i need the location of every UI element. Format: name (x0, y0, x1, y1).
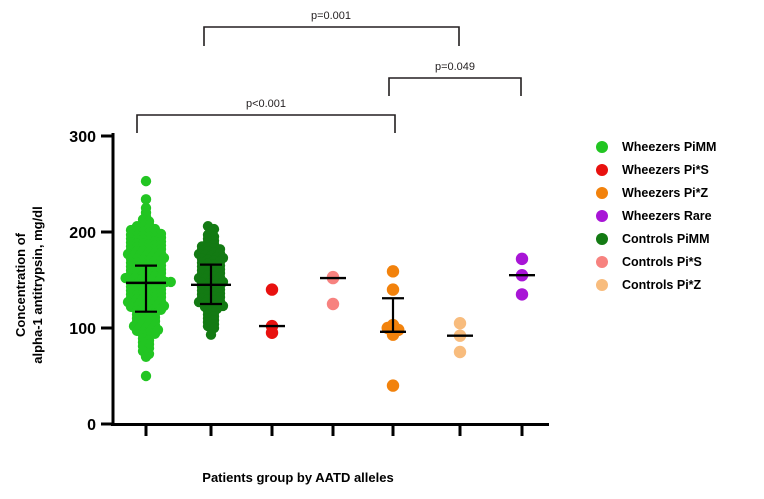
legend-color-swatch-icon (596, 187, 608, 199)
legend-item[interactable]: Wheezers Rare (596, 207, 716, 224)
legend-item[interactable]: Controls PiMM (596, 230, 716, 247)
annotation-bracket-p001: p=0.001 (204, 10, 459, 46)
legend-color-swatch-icon (596, 279, 608, 291)
legend-item-label: Wheezers PiMM (622, 140, 716, 154)
data-point (387, 283, 399, 295)
pvalue-label-middle: p<0.001 (246, 98, 286, 110)
figure-container: 300 200 100 0 Concentration of alpha-1 a… (0, 0, 764, 499)
data-point (266, 283, 278, 295)
data-points-layer (120, 176, 528, 392)
legend-color-swatch-icon (596, 141, 608, 153)
data-point (141, 371, 151, 381)
legend-item-label: Controls PiMM (622, 232, 710, 246)
data-point (387, 379, 399, 391)
y-tick-label-200: 200 (69, 225, 96, 242)
legend-item-label: Wheezers Pi*Z (622, 186, 708, 200)
legend-item[interactable]: Wheezers Pi*Z (596, 184, 716, 201)
y-tick-label-0: 0 (87, 417, 96, 434)
legend-item[interactable]: Wheezers Pi*S (596, 161, 716, 178)
legend-color-swatch-icon (596, 210, 608, 222)
data-point (141, 176, 151, 186)
y-tick-marks (101, 136, 113, 424)
legend-item[interactable]: Controls Pi*Z (596, 276, 716, 293)
data-point (454, 346, 466, 358)
data-point (206, 330, 216, 340)
legend-item-label: Controls Pi*S (622, 255, 702, 269)
data-point (454, 317, 466, 329)
data-point (266, 327, 278, 339)
legend-item-label: Wheezers Rare (622, 209, 712, 223)
data-point (516, 288, 528, 300)
data-point (166, 277, 176, 287)
legend-color-swatch-icon (596, 233, 608, 245)
pvalue-label-top: p=0.001 (311, 10, 351, 22)
y-axis-title-line1: Concentration of (13, 232, 28, 337)
legend-item[interactable]: Wheezers PiMM (596, 138, 716, 155)
x-axis-title: Patients group by AATD alleles (0, 470, 596, 485)
y-axis-title-line2: alpha-1 antitrypsin, mg/dl (30, 206, 45, 363)
legend-item-label: Controls Pi*Z (622, 278, 701, 292)
legend-item-label: Wheezers Pi*S (622, 163, 709, 177)
legend-item[interactable]: Controls Pi*S (596, 253, 716, 270)
data-point (141, 352, 151, 362)
annotation-bracket-p0049: p=0.049 (389, 61, 521, 96)
data-point (327, 298, 339, 310)
legend: Wheezers PiMMWheezers Pi*SWheezers Pi*ZW… (596, 138, 716, 293)
legend-color-swatch-icon (596, 256, 608, 268)
annotation-bracket-plt0001: p<0.001 (137, 98, 395, 133)
pvalue-label-right: p=0.049 (435, 61, 475, 73)
data-point (387, 265, 399, 277)
y-tick-label-100: 100 (69, 321, 96, 338)
y-tick-label-300: 300 (69, 129, 96, 146)
data-point (516, 253, 528, 265)
legend-color-swatch-icon (596, 164, 608, 176)
